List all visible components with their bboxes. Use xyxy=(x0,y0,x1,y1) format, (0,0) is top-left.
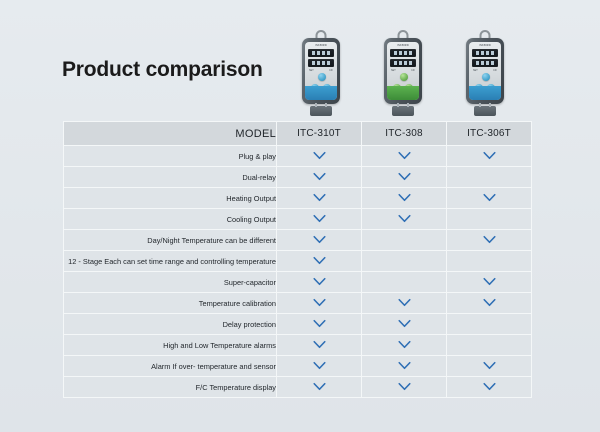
cell-check-itc-308 xyxy=(362,377,447,398)
cell-empty-itc-306t xyxy=(447,167,532,188)
check-icon xyxy=(313,298,326,307)
table-header-row: MODEL ITC-310T ITC-308 ITC-306T xyxy=(64,122,532,146)
product-image-itc-308: INKBIRDSETC/F xyxy=(380,28,426,118)
table-row: Delay protection xyxy=(64,314,532,335)
device-plug xyxy=(392,106,414,116)
check-icon xyxy=(313,319,326,328)
cell-check-itc-310t xyxy=(277,272,362,293)
device-faceplate: INKBIRDSETC/F xyxy=(305,42,337,100)
cell-empty-itc-306t xyxy=(447,335,532,356)
device-set-button xyxy=(318,73,326,81)
cell-check-itc-310t xyxy=(277,356,362,377)
table-row: Temperature calibration xyxy=(64,293,532,314)
check-icon xyxy=(313,172,326,181)
check-icon xyxy=(483,235,496,244)
cell-check-itc-308 xyxy=(362,209,447,230)
cell-check-itc-310t xyxy=(277,188,362,209)
table-row: Plug & play xyxy=(64,146,532,167)
device-faceplate: INKBIRDSETC/F xyxy=(387,42,419,100)
check-icon xyxy=(313,256,326,265)
device-label-left: SET xyxy=(473,69,478,72)
feature-label: Cooling Output xyxy=(64,209,277,230)
device-label-left: SET xyxy=(391,69,396,72)
device-label-right: C/F xyxy=(329,69,333,72)
check-icon xyxy=(313,382,326,391)
header-itc-308: ITC-308 xyxy=(362,122,447,146)
product-image-itc-306t: INKBIRDSETC/F xyxy=(462,28,508,118)
cell-check-itc-308 xyxy=(362,356,447,377)
table-body: Plug & playDual-relayHeating OutputCooli… xyxy=(64,146,532,398)
table-row: Alarm If over- temperature and sensor xyxy=(64,356,532,377)
feature-label: Delay protection xyxy=(64,314,277,335)
feature-label: 12 - Stage Each can set time range and c… xyxy=(64,251,277,272)
device-plug xyxy=(310,106,332,116)
cell-check-itc-308 xyxy=(362,167,447,188)
device-display-top xyxy=(308,49,334,57)
device-base-band xyxy=(305,86,337,100)
cell-check-itc-306t xyxy=(447,356,532,377)
cell-check-itc-306t xyxy=(447,293,532,314)
check-icon xyxy=(313,193,326,202)
cell-check-itc-306t xyxy=(447,230,532,251)
device-label-left: SET xyxy=(309,69,314,72)
check-icon xyxy=(483,151,496,160)
table-row: Dual-relay xyxy=(64,167,532,188)
cell-check-itc-310t xyxy=(277,167,362,188)
check-icon xyxy=(398,172,411,181)
cell-empty-itc-308 xyxy=(362,251,447,272)
page-title: Product comparison xyxy=(62,58,263,82)
feature-label: Plug & play xyxy=(64,146,277,167)
table-row: High and Low Temperature alarms xyxy=(64,335,532,356)
cell-check-itc-310t xyxy=(277,293,362,314)
check-icon xyxy=(483,361,496,370)
table-row: Cooling Output xyxy=(64,209,532,230)
cell-check-itc-310t xyxy=(277,209,362,230)
check-icon xyxy=(483,277,496,286)
table-row: Heating Output xyxy=(64,188,532,209)
cell-check-itc-310t xyxy=(277,377,362,398)
device-plug xyxy=(474,106,496,116)
check-icon xyxy=(313,214,326,223)
table-row: 12 - Stage Each can set time range and c… xyxy=(64,251,532,272)
check-icon xyxy=(398,382,411,391)
check-icon xyxy=(398,340,411,349)
cell-empty-itc-308 xyxy=(362,272,447,293)
check-icon xyxy=(313,277,326,286)
device-base-band xyxy=(469,86,501,100)
cell-check-itc-306t xyxy=(447,188,532,209)
check-icon xyxy=(398,214,411,223)
table-row: Day/Night Temperature can be different xyxy=(64,230,532,251)
feature-label: F/C Temperature display xyxy=(64,377,277,398)
device-faceplate: INKBIRDSETC/F xyxy=(469,42,501,100)
feature-label: Temperature calibration xyxy=(64,293,277,314)
feature-label: Alarm If over- temperature and sensor xyxy=(64,356,277,377)
cell-check-itc-310t xyxy=(277,146,362,167)
header-model: MODEL xyxy=(64,122,277,146)
cell-empty-itc-306t xyxy=(447,209,532,230)
check-icon xyxy=(483,298,496,307)
feature-label: Day/Night Temperature can be different xyxy=(64,230,277,251)
device-display-top xyxy=(472,49,498,57)
cell-check-itc-310t xyxy=(277,314,362,335)
check-icon xyxy=(398,319,411,328)
device-label-right: C/F xyxy=(411,69,415,72)
device-display-bottom xyxy=(308,59,334,67)
header-itc-306t: ITC-306T xyxy=(447,122,532,146)
feature-label: Super-capacitor xyxy=(64,272,277,293)
device-body: INKBIRDSETC/F xyxy=(302,38,340,104)
cell-check-itc-308 xyxy=(362,146,447,167)
page-canvas: Product comparison INKBIRDSETC/FINKBIRDS… xyxy=(0,0,600,432)
check-icon xyxy=(398,193,411,202)
device-set-button xyxy=(482,73,490,81)
device-brand-label: INKBIRD xyxy=(387,44,419,47)
product-image-row: INKBIRDSETC/FINKBIRDSETC/FINKBIRDSETC/F xyxy=(280,28,540,118)
feature-label: Dual-relay xyxy=(64,167,277,188)
cell-check-itc-306t xyxy=(447,377,532,398)
check-icon xyxy=(483,193,496,202)
cell-check-itc-310t xyxy=(277,251,362,272)
cell-check-itc-308 xyxy=(362,293,447,314)
cell-check-itc-310t xyxy=(277,335,362,356)
cell-empty-itc-306t xyxy=(447,314,532,335)
feature-label: Heating Output xyxy=(64,188,277,209)
cell-empty-itc-306t xyxy=(447,251,532,272)
device-display-top xyxy=(390,49,416,57)
cell-check-itc-308 xyxy=(362,314,447,335)
device-base-band xyxy=(387,86,419,100)
comparison-table-container: MODEL ITC-310T ITC-308 ITC-306T Plug & p… xyxy=(63,121,531,398)
feature-label: High and Low Temperature alarms xyxy=(64,335,277,356)
check-icon xyxy=(313,361,326,370)
table-row: F/C Temperature display xyxy=(64,377,532,398)
check-icon xyxy=(313,340,326,349)
product-image-itc-310t: INKBIRDSETC/F xyxy=(298,28,344,118)
cell-empty-itc-308 xyxy=(362,230,447,251)
table-row: Super-capacitor xyxy=(64,272,532,293)
device-set-button xyxy=(400,73,408,81)
cell-check-itc-308 xyxy=(362,335,447,356)
table-header: MODEL ITC-310T ITC-308 ITC-306T xyxy=(64,122,532,146)
header-itc-310t: ITC-310T xyxy=(277,122,362,146)
check-icon xyxy=(398,298,411,307)
device-label-right: C/F xyxy=(493,69,497,72)
cell-check-itc-306t xyxy=(447,146,532,167)
cell-check-itc-306t xyxy=(447,272,532,293)
cell-check-itc-310t xyxy=(277,230,362,251)
check-icon xyxy=(313,151,326,160)
check-icon xyxy=(398,151,411,160)
comparison-table: MODEL ITC-310T ITC-308 ITC-306T Plug & p… xyxy=(63,121,532,398)
device-brand-label: INKBIRD xyxy=(469,44,501,47)
device-display-bottom xyxy=(390,59,416,67)
check-icon xyxy=(313,235,326,244)
check-icon xyxy=(483,382,496,391)
device-display-bottom xyxy=(472,59,498,67)
device-body: INKBIRDSETC/F xyxy=(466,38,504,104)
check-icon xyxy=(398,361,411,370)
cell-check-itc-308 xyxy=(362,188,447,209)
device-body: INKBIRDSETC/F xyxy=(384,38,422,104)
device-brand-label: INKBIRD xyxy=(305,44,337,47)
